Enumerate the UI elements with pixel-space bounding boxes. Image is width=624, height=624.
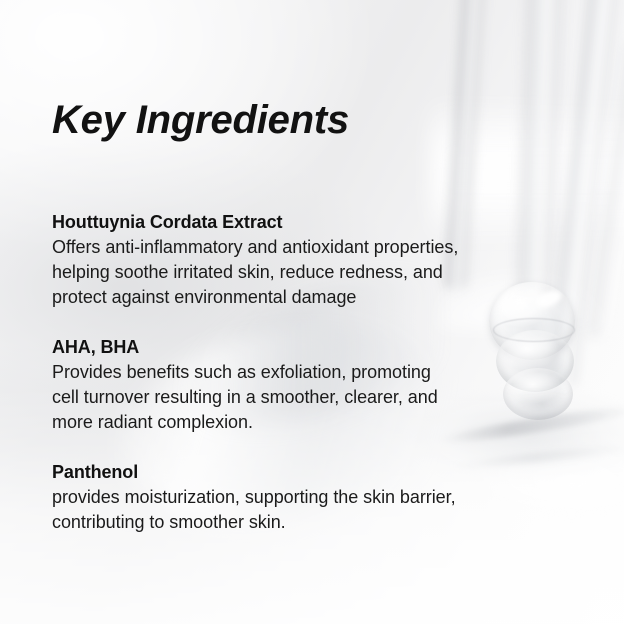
ingredient-description: Provides benefits such as exfoliation, p… [52,360,460,435]
ingredient-item: Houttuynia Cordata Extract Offers anti-i… [52,210,460,310]
ingredient-name: AHA, BHA [52,335,460,360]
page-title: Key Ingredients [52,96,349,144]
ingredient-description: provides moisturization, supporting the … [52,485,460,535]
ingredient-item: AHA, BHA Provides benefits such as exfol… [52,335,460,435]
ingredient-list: Houttuynia Cordata Extract Offers anti-i… [52,210,460,535]
key-ingredients-card: Key Ingredients Houttuynia Cordata Extra… [0,0,624,624]
ingredient-name: Houttuynia Cordata Extract [52,210,460,235]
content-column: Key Ingredients Houttuynia Cordata Extra… [52,0,472,624]
glass-droplet-rim [493,318,575,342]
ingredient-name: Panthenol [52,460,460,485]
ingredient-item: Panthenol provides moisturization, suppo… [52,460,460,535]
ingredient-description: Offers anti-inflammatory and antioxidant… [52,235,460,310]
